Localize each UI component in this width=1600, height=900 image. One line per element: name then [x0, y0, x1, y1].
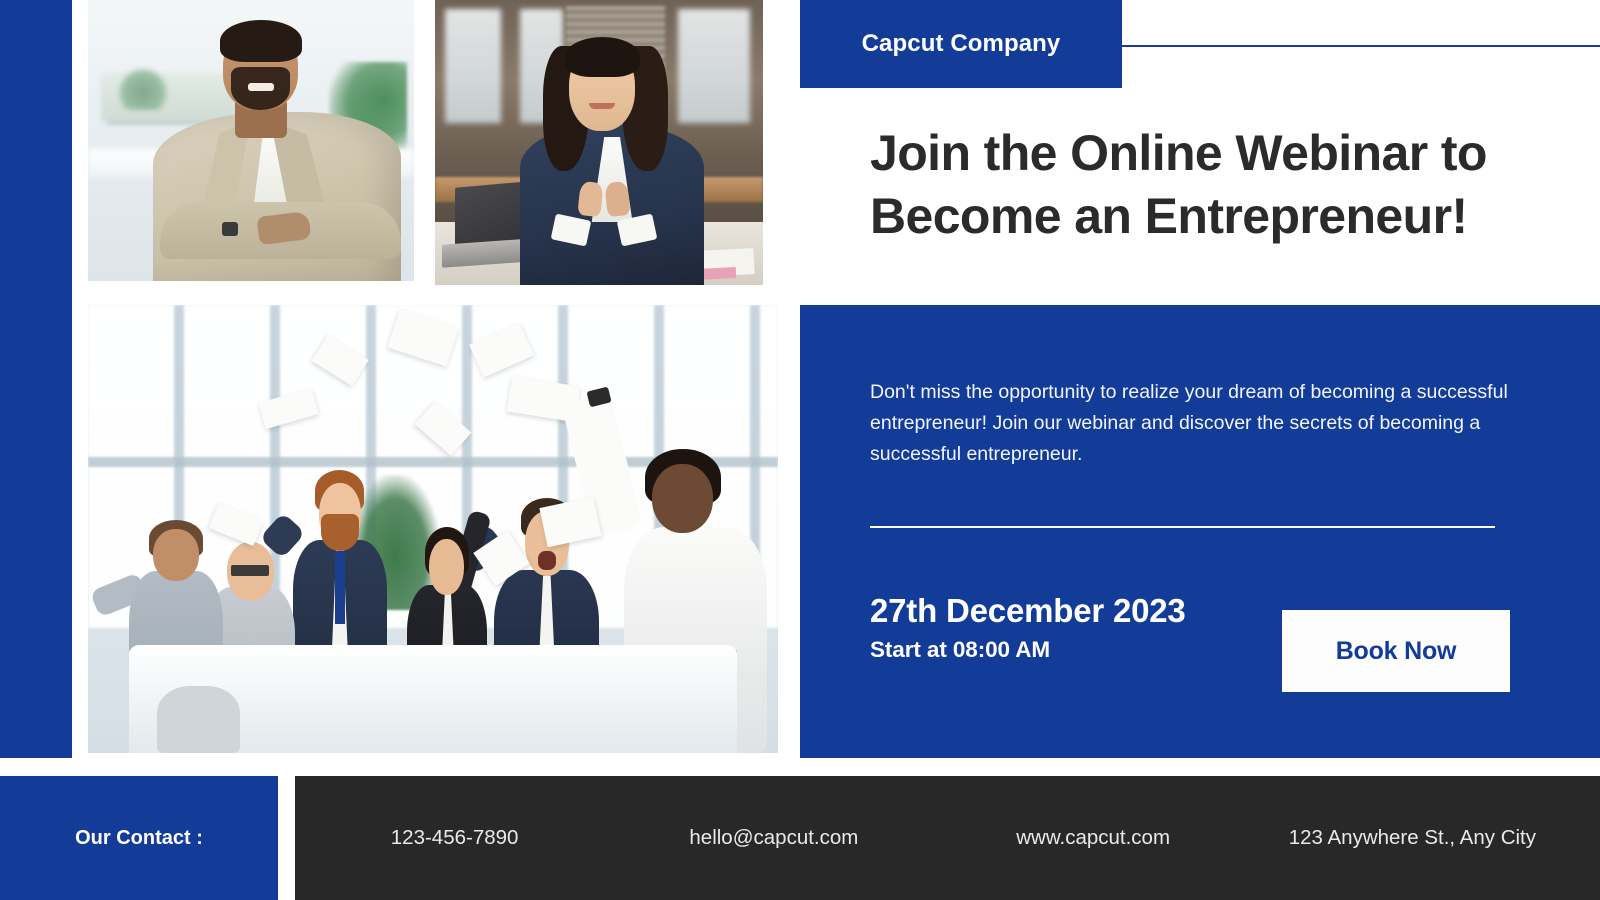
photo-team-scene	[88, 305, 778, 753]
brand-logo-block: Capcut Company	[800, 0, 1122, 88]
left-accent-bar	[0, 0, 72, 758]
description-text: Don't miss the opportunity to realize yo…	[870, 377, 1520, 471]
photo-businessman-scene	[88, 0, 414, 281]
event-date: 27th December 2023	[870, 593, 1186, 629]
book-now-button[interactable]: Book Now	[1282, 610, 1510, 692]
head-back	[652, 464, 713, 533]
hair	[220, 20, 302, 62]
smile	[248, 83, 274, 91]
hair-fringe	[565, 37, 640, 77]
plant-left-blur	[117, 67, 169, 109]
window-pane-3	[678, 9, 750, 123]
headline-line-2: Become an Entrepreneur!	[870, 188, 1467, 244]
photo-team-celebration	[88, 305, 778, 753]
page-title: Join the Online Webinar to Become an Ent…	[870, 122, 1520, 248]
photo-businesswoman-scene	[435, 0, 763, 285]
event-start-time: Start at 08:00 AM	[870, 637, 1186, 663]
contact-label-block: Our Contact :	[0, 776, 278, 900]
header-rule	[1122, 45, 1600, 47]
face	[429, 539, 464, 595]
brand-name: Capcut Company	[862, 30, 1061, 58]
smile	[589, 103, 615, 110]
contact-items: 123-456-7890 hello@capcut.com www.capcut…	[295, 826, 1600, 850]
contact-address: 123 Anywhere St., Any City	[1253, 826, 1572, 850]
wristwatch	[222, 222, 238, 236]
photo-businesswoman	[435, 0, 763, 285]
contact-phone[interactable]: 123-456-7890	[295, 826, 614, 850]
contact-bar: 123-456-7890 hello@capcut.com www.capcut…	[295, 776, 1600, 900]
head-back	[153, 529, 199, 580]
contact-email[interactable]: hello@capcut.com	[614, 826, 933, 850]
hand	[256, 210, 311, 244]
necktie	[335, 551, 344, 624]
webinar-poster: Capcut Company Join the Online Webinar t…	[0, 0, 1600, 900]
contact-label: Our Contact :	[75, 827, 203, 850]
headline-line-1: Join the Online Webinar to	[870, 125, 1487, 181]
details-panel: Don't miss the opportunity to realize yo…	[800, 305, 1600, 758]
event-info: 27th December 2023 Start at 08:00 AM	[870, 593, 1186, 663]
contact-website[interactable]: www.capcut.com	[934, 826, 1253, 850]
hand-right	[604, 181, 630, 217]
beard	[321, 514, 359, 550]
panel-divider	[870, 526, 1495, 528]
open-mouth	[538, 551, 556, 570]
window-pane-1	[445, 9, 501, 123]
photo-businessman	[88, 0, 414, 281]
headline-section: Join the Online Webinar to Become an Ent…	[800, 88, 1600, 303]
office-chair	[157, 686, 240, 753]
